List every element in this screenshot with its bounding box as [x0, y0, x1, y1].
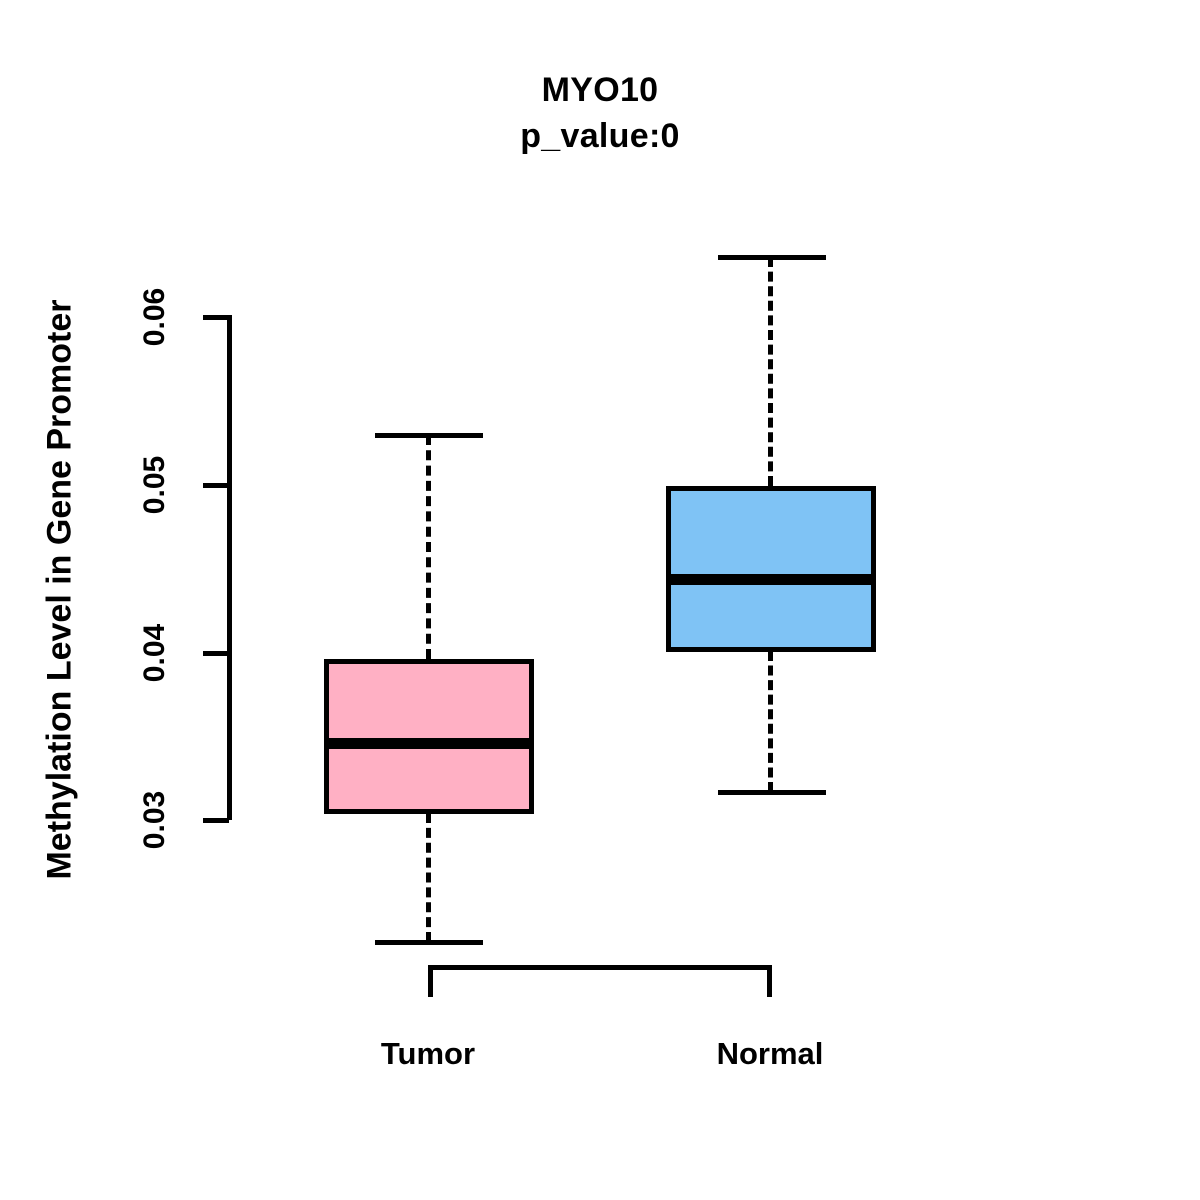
y-axis-tick-0.04 — [203, 651, 229, 656]
y-axis-title: Methylation Level in Gene Promoter — [41, 160, 80, 1020]
y-axis-tick-label-0.06: 0.06 — [138, 257, 172, 377]
y-axis-tick-0.06 — [203, 315, 229, 320]
tumor-box — [324, 659, 534, 814]
x-axis-line — [428, 965, 772, 970]
x-axis-tick-label-tumor: Tumor — [278, 1036, 578, 1072]
y-axis-tick-0.05 — [203, 483, 229, 488]
normal-upper-whisker — [768, 257, 773, 486]
x-axis-tick-normal — [767, 967, 772, 997]
x-axis-tick-label-normal: Normal — [620, 1036, 920, 1072]
tumor-upper-whisker-cap — [375, 433, 483, 438]
normal-upper-whisker-cap — [718, 255, 826, 260]
x-axis-tick-tumor — [428, 967, 433, 997]
tumor-median-line — [324, 738, 534, 749]
normal-box — [666, 486, 876, 652]
title-block: MYO10 p_value:0 — [0, 68, 1200, 160]
y-axis-tick-0.03 — [203, 818, 229, 823]
normal-lower-whisker — [768, 651, 773, 792]
y-axis-tick-label-0.05: 0.05 — [138, 425, 172, 545]
tumor-upper-whisker — [426, 435, 431, 659]
y-axis-tick-label-0.03: 0.03 — [138, 760, 172, 880]
tumor-lower-whisker — [426, 813, 431, 942]
y-axis-line — [227, 315, 232, 820]
p-value-subtitle: p_value:0 — [0, 112, 1200, 160]
normal-median-line — [666, 574, 876, 585]
y-axis-tick-label-0.04: 0.04 — [138, 593, 172, 713]
normal-lower-whisker-cap — [718, 790, 826, 795]
page-title: MYO10 — [0, 68, 1200, 112]
boxplot-figure: MYO10 p_value:0 Methylation Level in Gen… — [0, 0, 1200, 1200]
tumor-lower-whisker-cap — [375, 940, 483, 945]
